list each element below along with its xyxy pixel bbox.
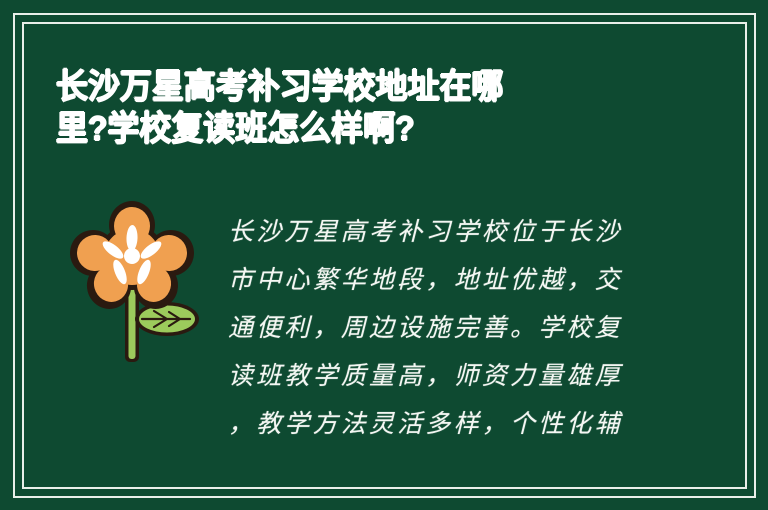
flower-illustration bbox=[70, 200, 200, 365]
page-title: 长沙万星高考补习学校地址在哪 里?学校复读班怎么样啊? bbox=[56, 66, 656, 150]
article-body-line-2: 市中心繁华地段，地址优越，交 bbox=[228, 256, 646, 304]
article-body-line-1: 长沙万星高考补习学校位于长沙 bbox=[228, 208, 646, 256]
page-title-line-2: 里?学校复读班怎么样啊? bbox=[56, 108, 620, 150]
flower-leaf-icon bbox=[135, 302, 199, 336]
article-body-line-5: ，教学方法灵活多样，个性化辅 bbox=[228, 400, 646, 448]
article-body-line-4: 读班教学质量高，师资力量雄厚 bbox=[228, 352, 646, 400]
page-title-line-1: 长沙万星高考补习学校地址在哪 bbox=[56, 66, 620, 108]
article-body: 长沙万星高考补习学校位于长沙 市中心繁华地段，地址优越，交 通便利，周边设施完善… bbox=[228, 208, 646, 448]
article-body-line-3: 通便利，周边设施完善。学校复 bbox=[228, 304, 646, 352]
poster-canvas: 长沙万星高考补习学校地址在哪 里?学校复读班怎么样啊? bbox=[0, 0, 768, 510]
